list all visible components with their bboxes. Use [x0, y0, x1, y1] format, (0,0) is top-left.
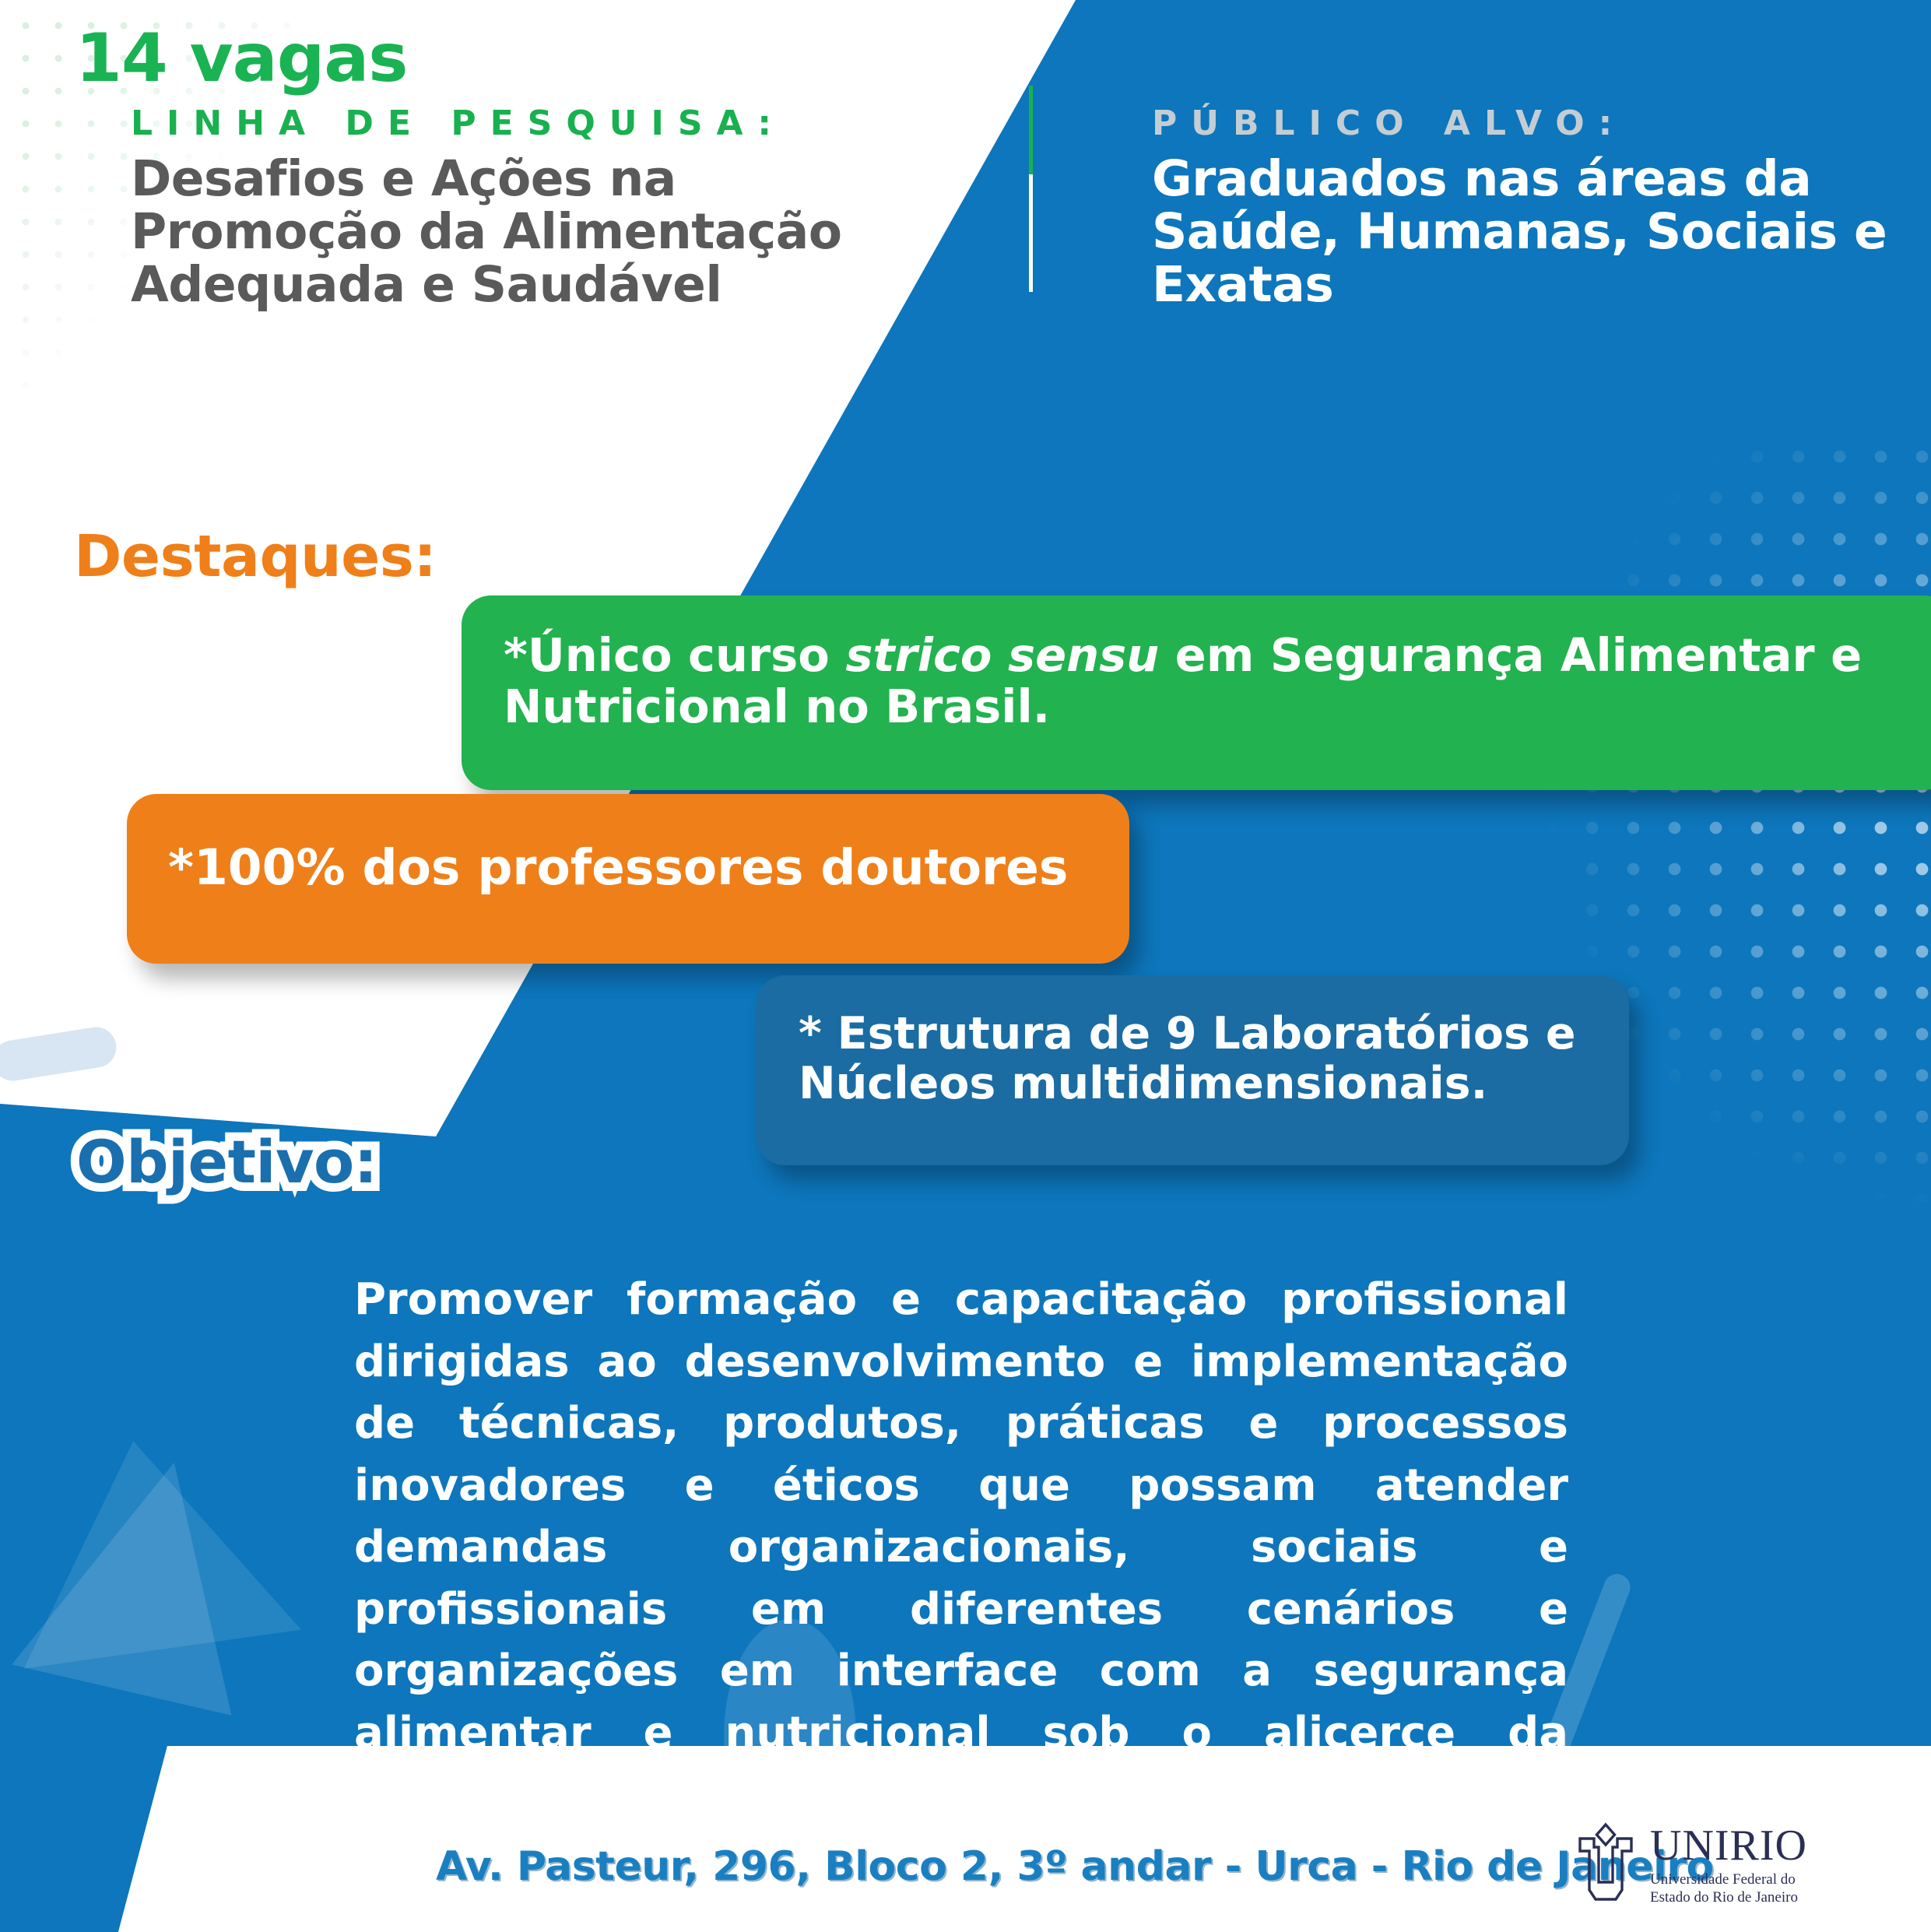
highlight-card-professores: *100% dos professores doutores [127, 794, 1129, 964]
unirio-logo: UNIRIO Universidade Federal do Estado do… [1572, 1821, 1807, 1909]
highlight-text-italic: strico sensu [845, 628, 1159, 682]
research-line-kicker: LINHA DE PESQUISA: [131, 104, 785, 143]
highlights-heading: Destaques: [74, 523, 436, 590]
unirio-logo-text: UNIRIO Universidade Federal do Estado do… [1650, 1824, 1807, 1906]
decorative-wave [0, 1024, 119, 1084]
unirio-chalice-icon [1572, 1821, 1639, 1909]
highlight-card-unico-curso: *Único curso strico sensu em Segurança A… [462, 595, 1931, 790]
vacancies-count: 14 vagas [75, 19, 408, 97]
objective-heading: Objetivo: [76, 1127, 377, 1196]
unirio-logo-subtitle: Universidade Federal do Estado do Rio de… [1650, 1871, 1807, 1906]
vertical-divider [1029, 86, 1033, 292]
target-audience-kicker: PÚBLICO ALVO: [1152, 104, 1626, 143]
unirio-logo-subtitle-line2: Estado do Rio de Janeiro [1650, 1889, 1807, 1906]
poster-root: 14 vagas LINHA DE PESQUISA: Desafios e A… [0, 0, 1931, 1932]
objective-text: Promover formação e capacitação profissi… [354, 1269, 1568, 1826]
footer-address: Av. Pasteur, 296, Bloco 2, 3º andar - Ur… [436, 1843, 1714, 1890]
target-audience-title: Graduados nas áreas da Saúde, Humanas, S… [1152, 153, 1899, 311]
unirio-logo-subtitle-line1: Universidade Federal do [1650, 1871, 1807, 1888]
highlight-card-laboratorios: * Estrutura de 9 Laboratórios e Núcleos … [756, 975, 1629, 1165]
unirio-logo-name: UNIRIO [1650, 1824, 1807, 1867]
research-line-title: Desafios e Ações na Promoção da Alimenta… [131, 153, 956, 311]
highlight-text-before: *Único curso [504, 628, 845, 682]
